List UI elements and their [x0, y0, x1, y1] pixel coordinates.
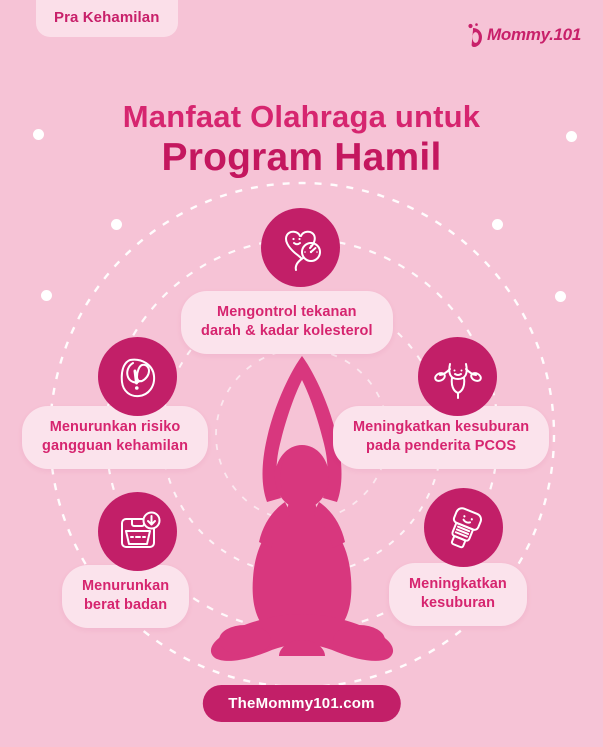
benefit-label-line2: kesuburan — [421, 595, 495, 611]
benefit-label-fertility: Meningkatkan kesuburan — [389, 563, 527, 626]
decorative-dot — [492, 219, 503, 230]
benefit-label-weight-loss: Menurunkan berat badan — [62, 565, 189, 628]
website-footer-label: TheMommy101.com — [228, 695, 374, 712]
decorative-dot — [41, 290, 52, 301]
pregnancy-test-stick-icon — [424, 488, 503, 567]
category-tag[interactable]: Pra Kehamilan — [36, 0, 178, 37]
infographic-canvas: Pra Kehamilan Mommy.101 Manfaat Olahraga… — [0, 0, 603, 747]
benefit-label-line2: berat badan — [84, 597, 167, 613]
category-tag-label: Pra Kehamilan — [54, 9, 160, 26]
benefit-label-line1: Menurunkan risiko — [50, 419, 181, 435]
brand-logo[interactable]: Mommy.101 — [467, 22, 581, 48]
website-footer-button[interactable]: TheMommy101.com — [202, 685, 400, 722]
benefit-label-pregnancy-risk: Menurunkan risiko gangguan kehamilan — [22, 406, 208, 469]
heart-blood-pressure-icon — [261, 208, 340, 287]
benefit-label-line2: gangguan kehamilan — [42, 438, 188, 454]
benefit-label-line2: darah & kadar kolesterol — [201, 323, 373, 339]
decorative-dot — [111, 219, 122, 230]
yoga-woman-silhouette — [197, 352, 407, 670]
benefit-label-line2: pada penderita PCOS — [366, 438, 516, 454]
page-title-line1: Manfaat Olahraga untuk — [0, 99, 603, 134]
page-title-line2: Program Hamil — [0, 136, 603, 180]
decorative-dot — [555, 291, 566, 302]
uterus-ovaries-icon — [418, 337, 497, 416]
benefit-label-line1: Meningkatkan — [409, 576, 507, 592]
benefit-label-line1: Meningkatkan kesuburan — [353, 419, 529, 435]
benefit-label-pcos-fertility: Meningkatkan kesuburan pada penderita PC… — [333, 406, 549, 469]
page-title: Manfaat Olahraga untuk Program Hamil — [0, 99, 603, 181]
benefit-label-line1: Mengontrol tekanan — [217, 304, 357, 320]
brand-logo-text: Mommy.101 — [487, 25, 581, 45]
pregnancy-warning-icon — [98, 337, 177, 416]
weight-scale-down-arrow-icon — [98, 492, 177, 571]
mother-and-baby-logo-icon — [467, 22, 485, 48]
benefit-label-line1: Menurunkan — [82, 578, 169, 594]
benefit-label-blood-pressure: Mengontrol tekanan darah & kadar koleste… — [181, 291, 393, 354]
